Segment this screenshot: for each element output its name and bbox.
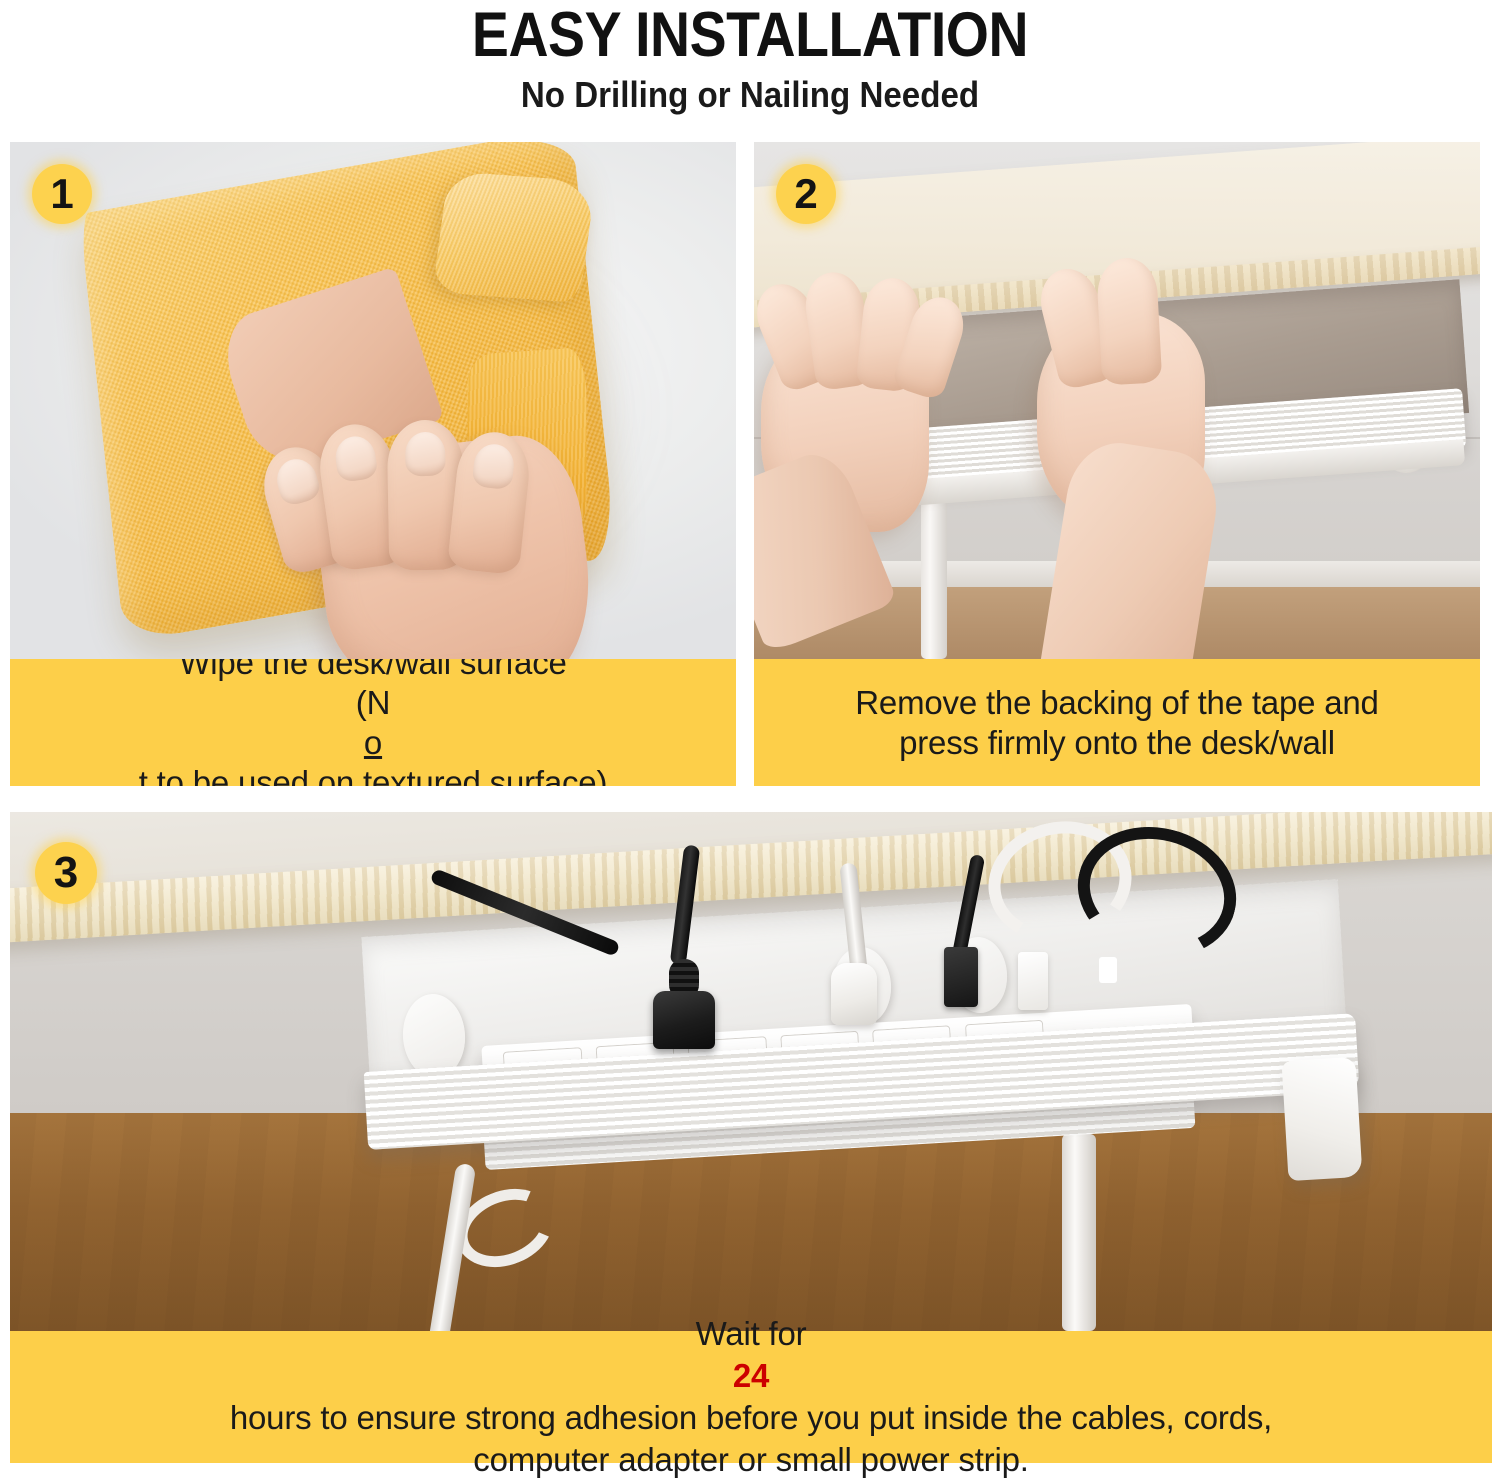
cable-tray-end-cap: [1281, 1056, 1362, 1180]
step-2-photo: 2: [754, 142, 1480, 659]
step-2-caption: Remove the backing of the tape and press…: [754, 659, 1480, 786]
thumb: [1096, 257, 1163, 386]
caption-hours-highlight: 24: [230, 1355, 1272, 1397]
black-power-plug: [647, 937, 721, 1049]
step-1-panel: 1 Wipe the desk/wall surface (Not to be …: [10, 142, 736, 786]
fingernail: [272, 454, 323, 507]
caption-not-suffix: t to be used on textured surface): [139, 763, 608, 787]
white-power-plug: [825, 905, 881, 1025]
step-badge-2: 2: [776, 164, 836, 224]
step-3-caption-line-2: computer adapter or small power strip.: [473, 1439, 1028, 1481]
step-3-panel: 3 Wait for 24 hours to ensure strong adh…: [10, 812, 1492, 1463]
step-3-caption-line-1: Wait for 24 hours to ensure strong adhes…: [230, 1313, 1272, 1439]
fingernail: [472, 442, 516, 490]
steps-top-row: 1 Wipe the desk/wall surface (Not to be …: [10, 142, 1492, 786]
right-hand: [1037, 266, 1237, 659]
caption-not-underline: o: [364, 724, 382, 761]
plug-body: [653, 991, 715, 1049]
header: EASY INSTALLATION No Drilling or Nailing…: [0, 0, 1500, 116]
step-badge-1: 1: [32, 164, 92, 224]
caption-not-prefix: (N: [139, 683, 608, 723]
step-1-caption-line-2: (Not to be used on textured surface): [139, 683, 608, 787]
page-subtitle: No Drilling or Nailing Needed: [60, 65, 1440, 116]
cable-tie: [1099, 957, 1117, 983]
hand: [262, 410, 592, 659]
step-2-caption-line-1: Remove the backing of the tape and: [855, 683, 1378, 723]
plug-body: [831, 963, 877, 1025]
desk-leg: [1062, 1134, 1096, 1331]
step-badge-3: 3: [35, 842, 97, 904]
fingernail: [333, 434, 379, 483]
step-2-panel: 2 Remove the backing of the tape and pre…: [754, 142, 1480, 786]
step-3-photo: 3: [10, 812, 1492, 1331]
caption-wait-suffix: hours to ensure strong adhesion before y…: [230, 1397, 1272, 1439]
caption-wait-prefix: Wait for: [230, 1313, 1272, 1355]
step-2-caption-line-2: press firmly onto the desk/wall: [899, 723, 1335, 763]
black-usb-connector: [944, 947, 978, 1007]
step-1-photo: 1: [10, 142, 736, 659]
cloth-fold-icon: [432, 171, 596, 303]
fingernail: [405, 432, 446, 477]
left-hand: [761, 276, 961, 566]
white-usb-connector: [1018, 952, 1048, 1010]
step-3-caption: Wait for 24 hours to ensure strong adhes…: [10, 1331, 1492, 1463]
step-1-caption: Wipe the desk/wall surface (Not to be us…: [10, 659, 736, 786]
page-title: EASY INSTALLATION: [90, 2, 1410, 65]
